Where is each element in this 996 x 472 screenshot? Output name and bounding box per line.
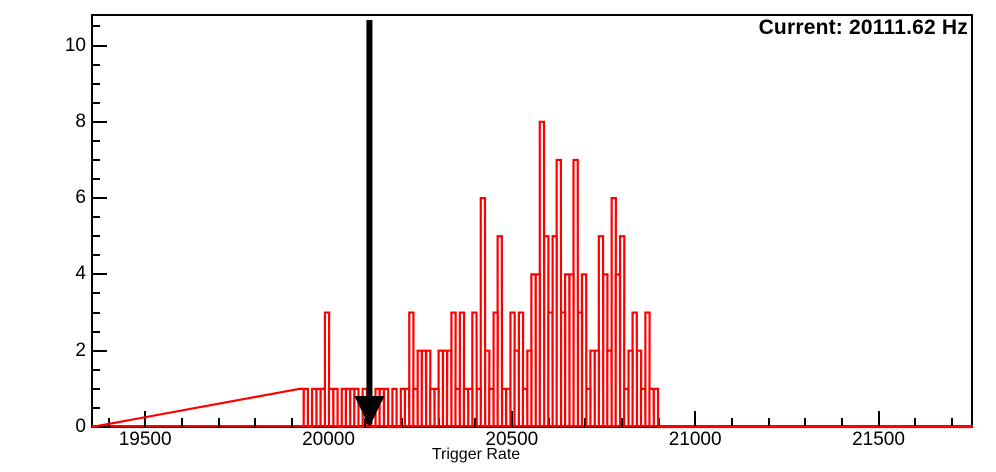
x-axis-title: Trigger Rate (0, 446, 996, 464)
root-canvas: 0246810 1950020000205002100021500 Curren… (0, 0, 996, 472)
x-axis-title-text: Trigger Rate (432, 446, 520, 463)
arrow-head (354, 396, 384, 427)
current-rate-readout: Current: 20111.62 Hz (759, 16, 968, 40)
current-rate-arrow (0, 0, 996, 472)
